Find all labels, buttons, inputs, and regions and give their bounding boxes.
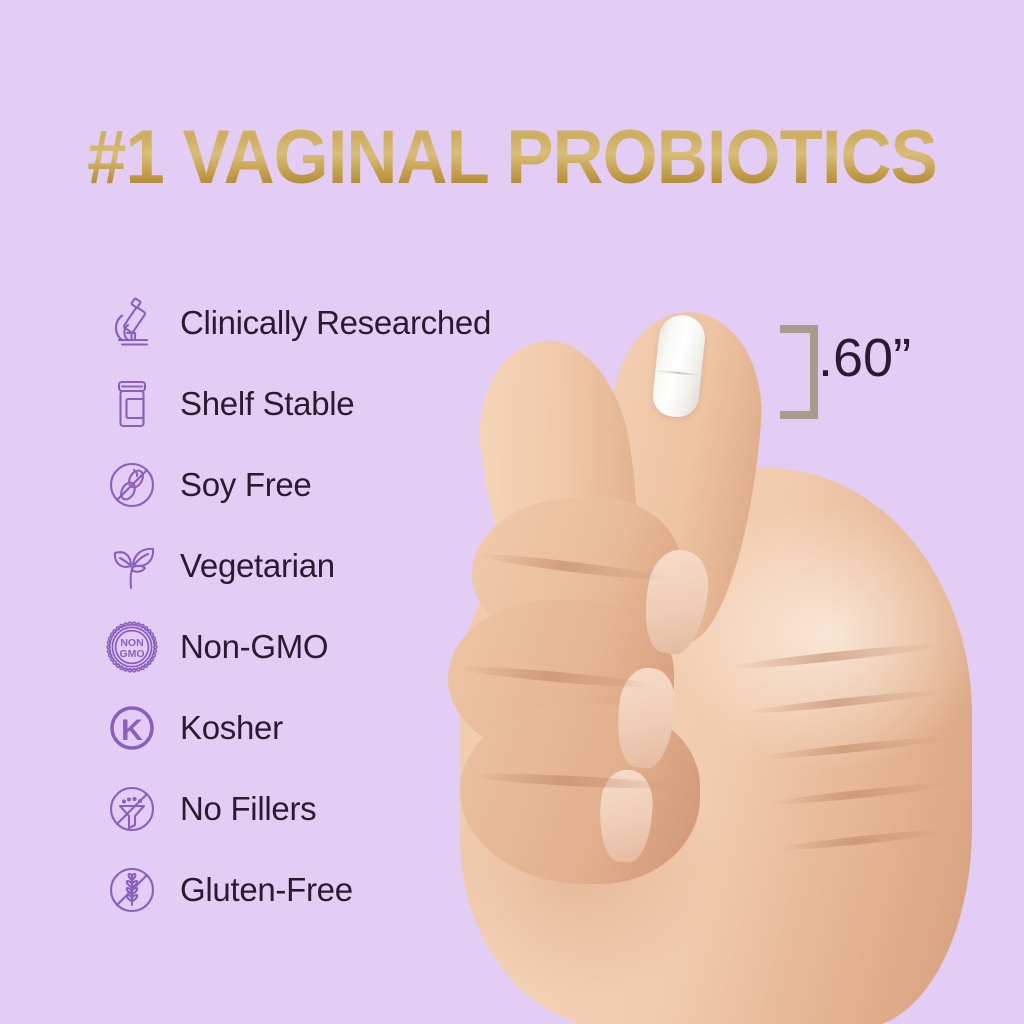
non-gmo-badge-icon: NON GMO <box>100 615 164 679</box>
kosher-letter: K <box>121 714 143 747</box>
feature-label: Gluten-Free <box>180 871 353 909</box>
non-gmo-line2: GMO <box>119 648 144 660</box>
feature-label: Kosher <box>180 709 283 747</box>
microscope-icon <box>100 291 164 355</box>
kosher-k-icon: K <box>100 696 164 760</box>
feature-label: No Fillers <box>180 790 316 828</box>
feature-label: Non-GMO <box>180 628 328 666</box>
feature-label: Shelf Stable <box>180 385 354 423</box>
no-soy-icon <box>100 453 164 517</box>
feature-label: Soy Free <box>180 466 312 504</box>
hand-holding-capsule-photo <box>430 300 1024 1024</box>
no-funnel-icon <box>100 777 164 841</box>
pill-bottle-icon <box>100 372 164 436</box>
measurement-value: .60” <box>818 327 911 389</box>
page-title: #1 VAGINAL PROBIOTICS <box>36 118 988 198</box>
no-wheat-icon <box>100 858 164 922</box>
leaf-sprig-icon <box>100 534 164 598</box>
product-marketing-image: #1 VAGINAL PROBIOTICS Clinically Researc… <box>0 0 1024 1024</box>
feature-label: Vegetarian <box>180 547 335 585</box>
measurement-bracket-icon <box>780 325 818 419</box>
